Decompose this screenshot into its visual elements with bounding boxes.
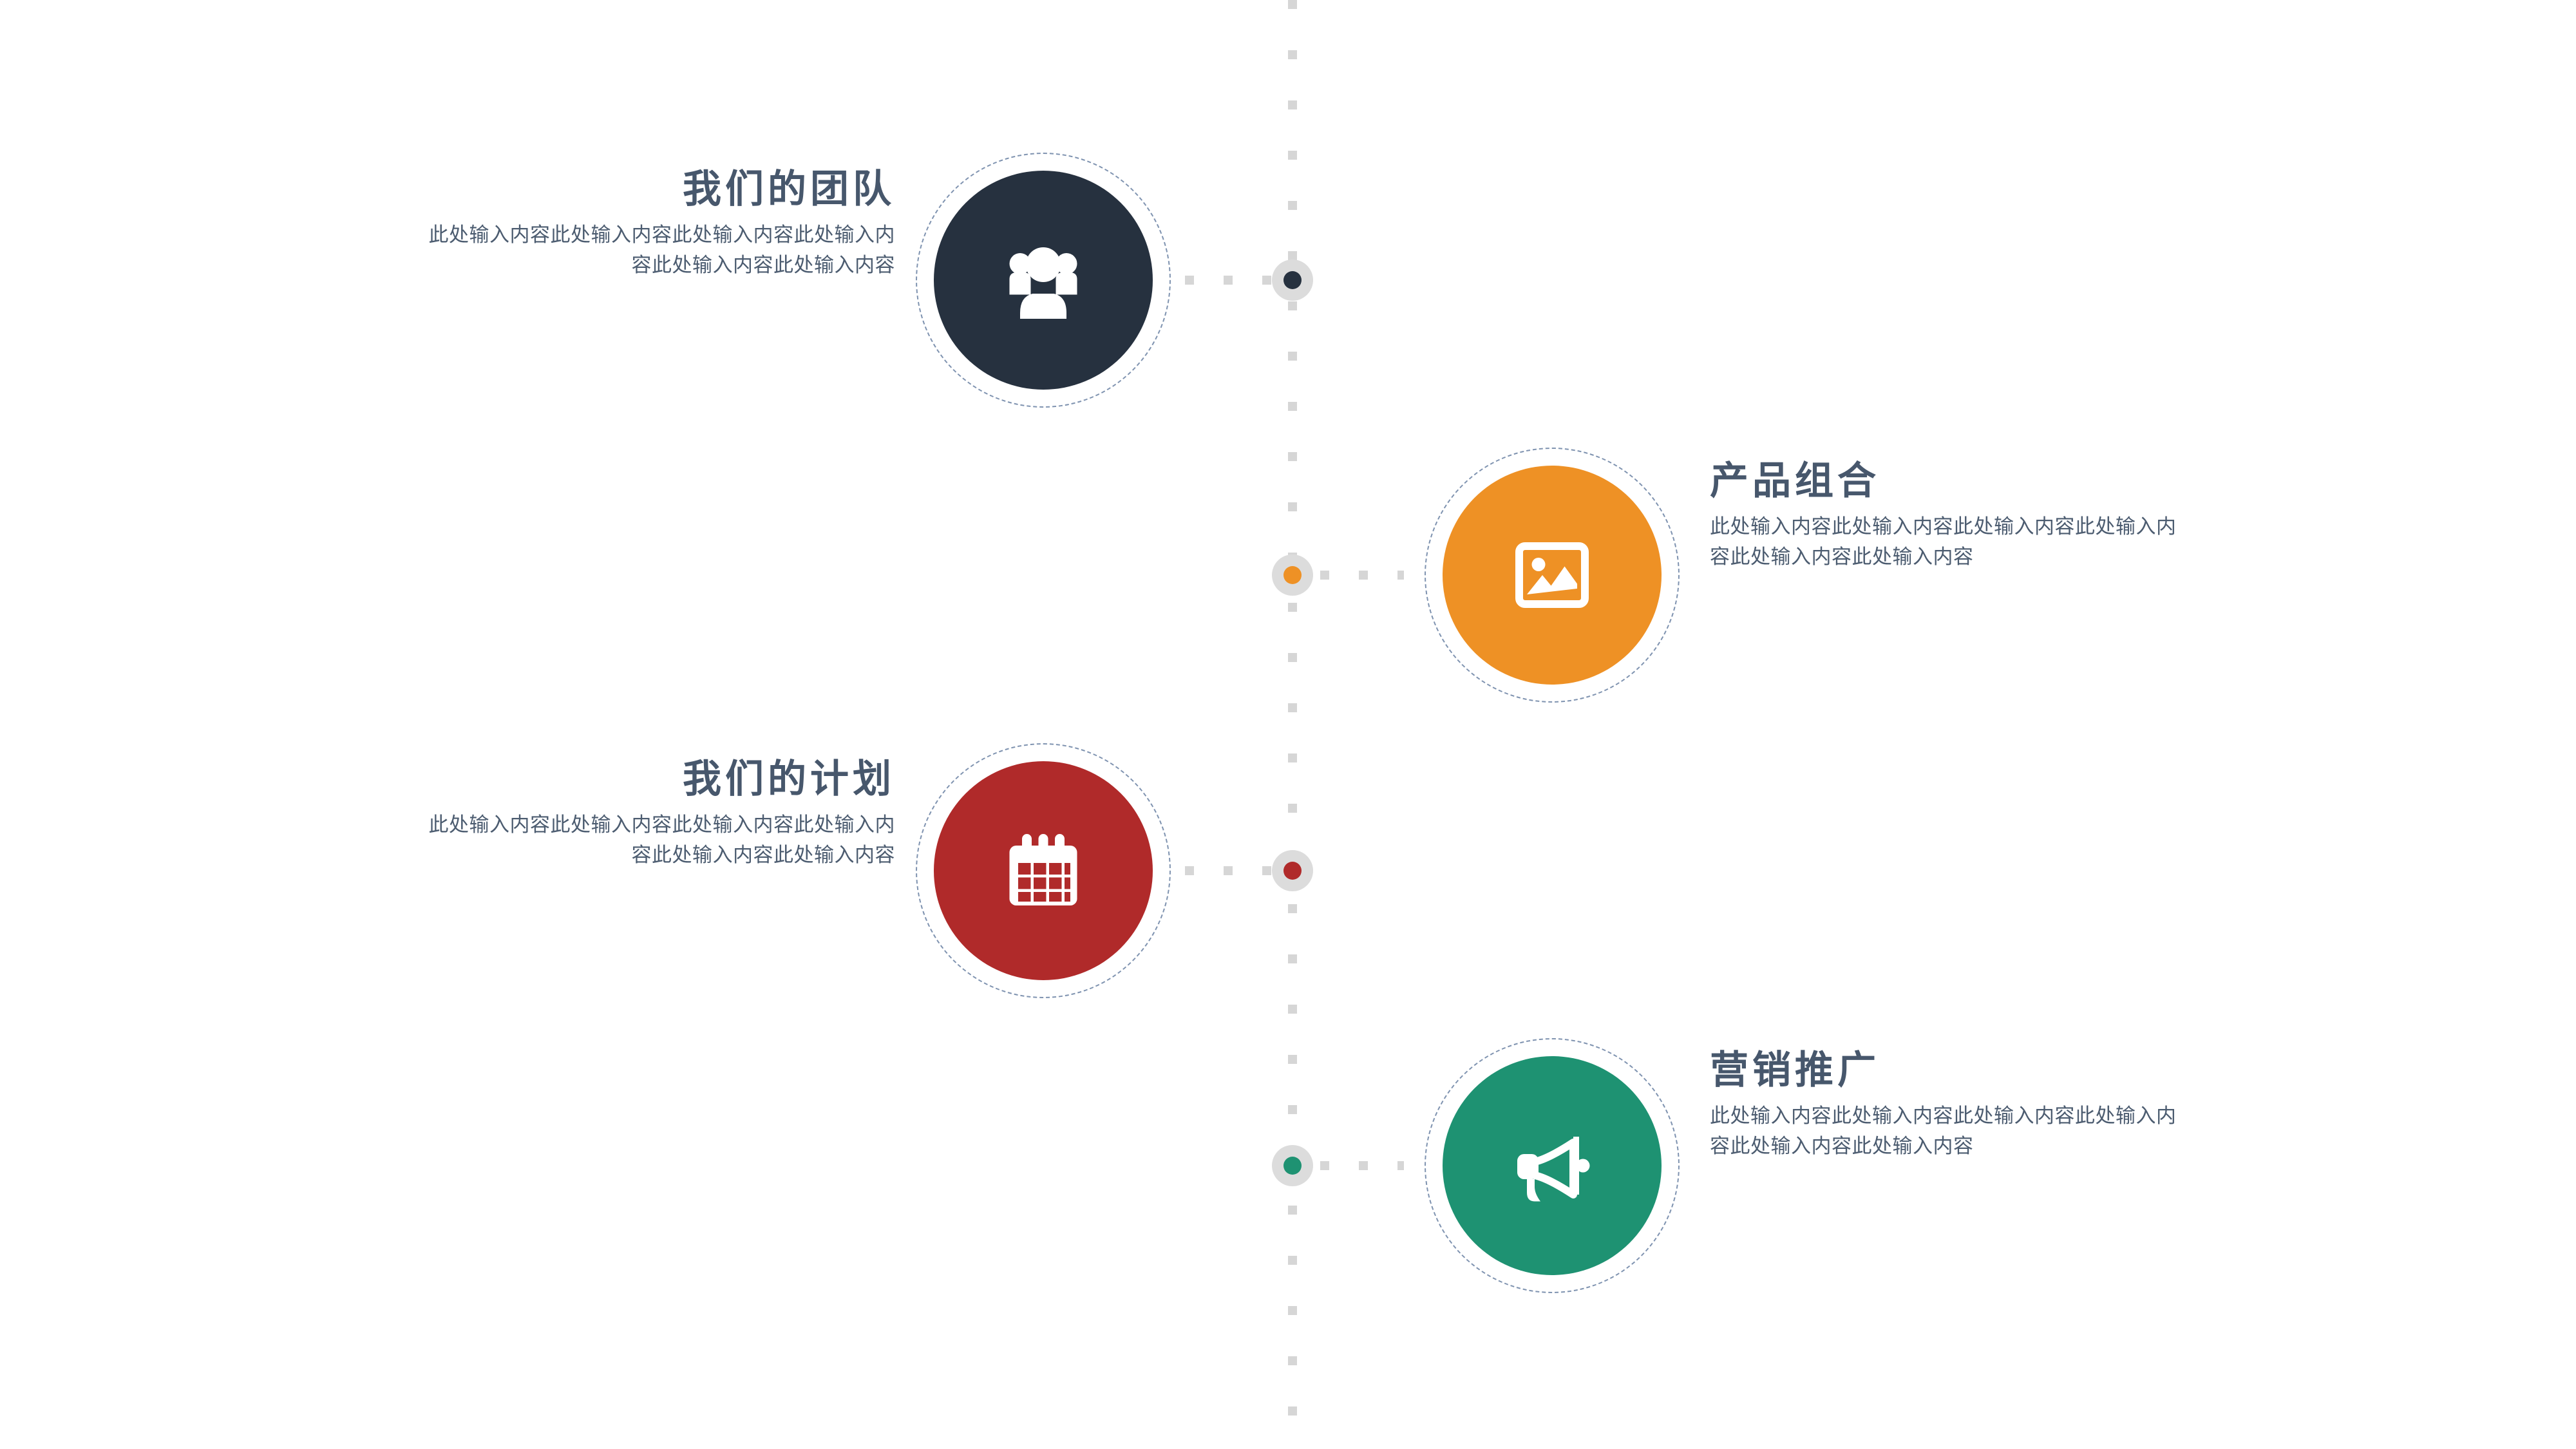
content-block-4: 营销推广 此处输入内容此处输入内容此处输入内容此处输入内容此处输入内容此处输入内… xyxy=(1710,1050,2186,1161)
icon-bubble-plan[interactable] xyxy=(934,761,1153,980)
item-title-2: 产品组合 xyxy=(1710,460,2186,501)
icon-bubble-team[interactable] xyxy=(934,171,1153,390)
timeline-node-dot-4 xyxy=(1283,1157,1302,1175)
timeline-spine xyxy=(1288,0,1297,1449)
people-group-icon xyxy=(995,232,1092,328)
image-picture-icon xyxy=(1504,527,1600,623)
timeline-node-2[interactable] xyxy=(1272,554,1313,596)
timeline-node-dot-3 xyxy=(1283,862,1302,880)
item-title-3: 我们的计划 xyxy=(419,759,895,799)
calendar-icon xyxy=(995,822,1092,919)
timeline-node-1[interactable] xyxy=(1272,260,1313,301)
icon-bubble-marketing[interactable] xyxy=(1443,1056,1662,1275)
item-body-2: 此处输入内容此处输入内容此处输入内容此处输入内容此处输入内容此处输入内容 xyxy=(1710,511,2186,572)
item-title-4: 营销推广 xyxy=(1710,1050,2186,1090)
item-body-1: 此处输入内容此处输入内容此处输入内容此处输入内容此处输入内容此处输入内容 xyxy=(419,220,895,280)
timeline-infographic: 我们的团队 此处输入内容此处输入内容此处输入内容此处输入内容此处输入内容此处输入… xyxy=(0,0,2576,1449)
icon-bubble-product[interactable] xyxy=(1443,466,1662,685)
timeline-node-dot-1 xyxy=(1283,271,1302,289)
item-body-4: 此处输入内容此处输入内容此处输入内容此处输入内容此处输入内容此处输入内容 xyxy=(1710,1101,2186,1161)
content-block-2: 产品组合 此处输入内容此处输入内容此处输入内容此处输入内容此处输入内容此处输入内… xyxy=(1710,460,2186,572)
content-block-1: 我们的团队 此处输入内容此处输入内容此处输入内容此处输入内容此处输入内容此处输入… xyxy=(419,169,895,280)
megaphone-icon xyxy=(1504,1117,1600,1214)
timeline-node-4[interactable] xyxy=(1272,1145,1313,1186)
timeline-node-3[interactable] xyxy=(1272,850,1313,891)
content-block-3: 我们的计划 此处输入内容此处输入内容此处输入内容此处输入内容此处输入内容此处输入… xyxy=(419,759,895,870)
timeline-node-dot-2 xyxy=(1283,566,1302,584)
item-body-3: 此处输入内容此处输入内容此处输入内容此处输入内容此处输入内容此处输入内容 xyxy=(419,810,895,870)
item-title-1: 我们的团队 xyxy=(419,169,895,209)
